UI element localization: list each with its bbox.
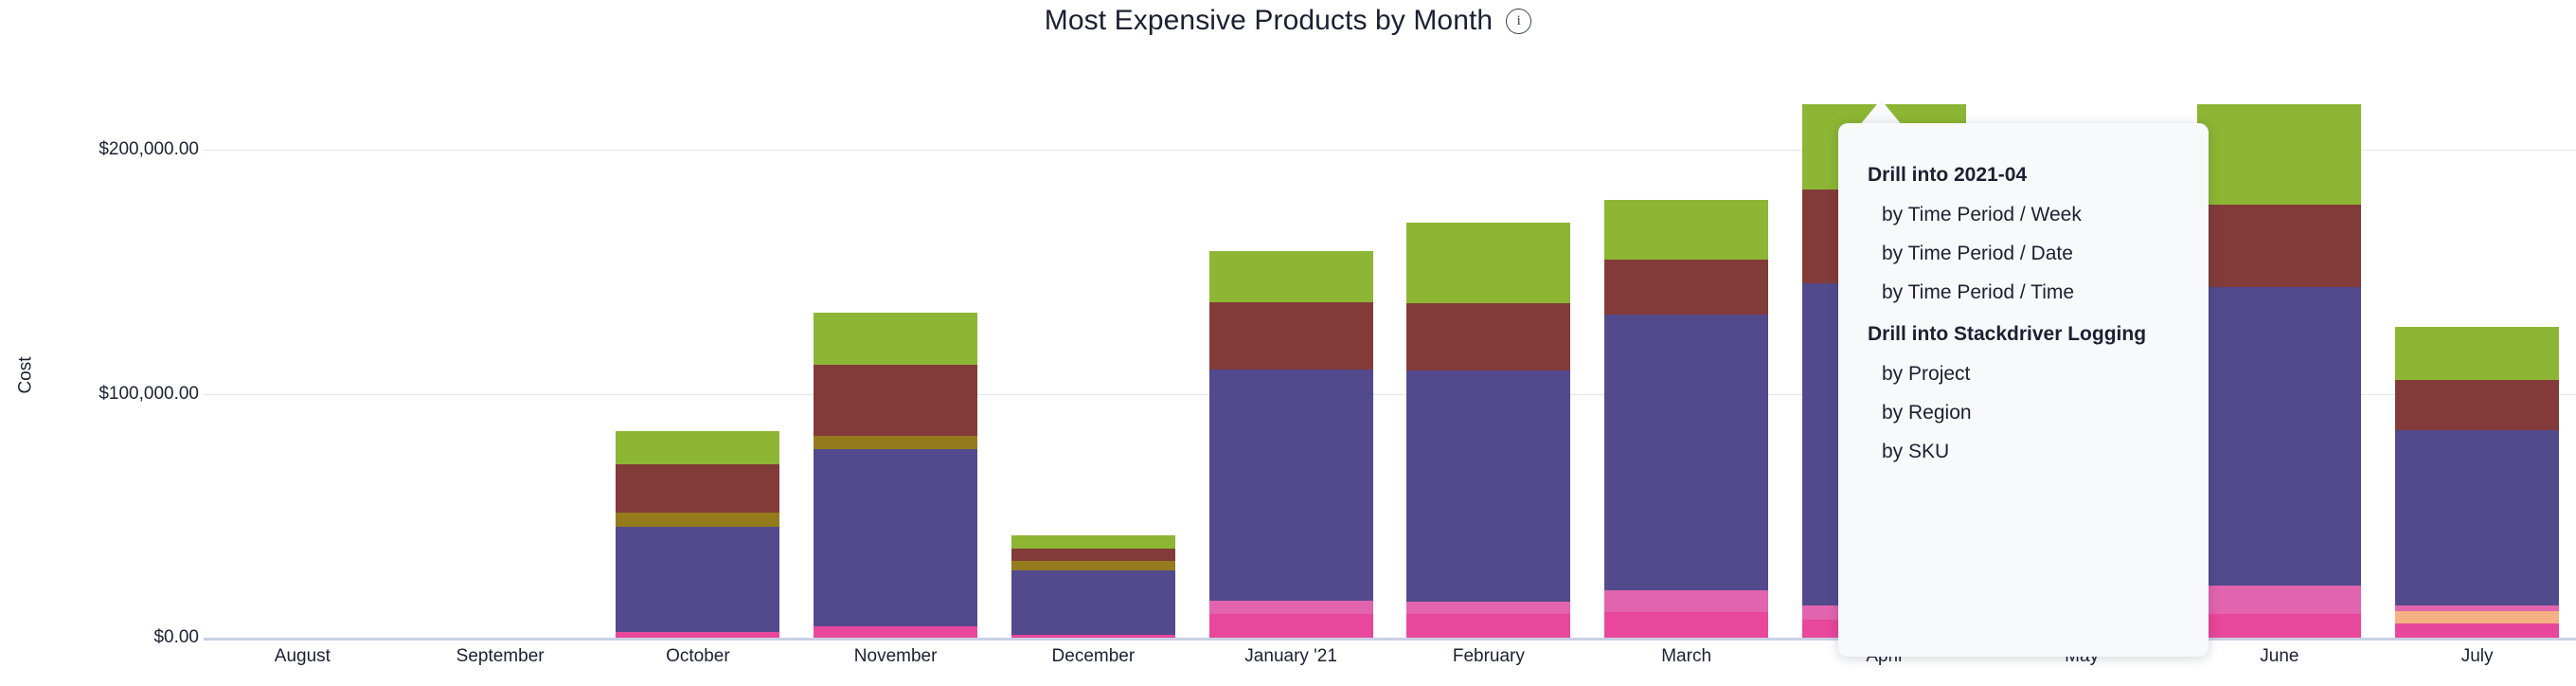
drill-menu-popup[interactable]: Drill into 2021-04by Time Period / Weekb… xyxy=(1838,123,2209,657)
bar-segment[interactable] xyxy=(1604,315,1768,590)
bar-segment[interactable] xyxy=(1011,561,1175,570)
bar-segment[interactable] xyxy=(2395,327,2559,379)
bar-column[interactable] xyxy=(2395,327,2559,638)
x-axis-tick-label: June xyxy=(2260,646,2299,667)
bar-segment[interactable] xyxy=(1406,223,1570,303)
bar-segment[interactable] xyxy=(616,464,779,514)
bar-segment[interactable] xyxy=(2197,586,2361,614)
x-axis-tick-label: November xyxy=(854,646,938,667)
x-axis-tick-label: January '21 xyxy=(1244,646,1337,667)
x-axis-tick-label: October xyxy=(666,646,730,667)
y-axis-ticks: $0.00$100,000.00$200,000.00 xyxy=(0,0,199,686)
bar-segment[interactable] xyxy=(1011,549,1175,560)
bar-segment[interactable] xyxy=(1604,590,1768,612)
bar-segment[interactable] xyxy=(1406,614,1570,638)
bar-segment[interactable] xyxy=(2395,430,2559,605)
x-axis-tick-label: December xyxy=(1052,646,1136,667)
drill-menu-item[interactable]: by Time Period / Time xyxy=(1882,281,2074,304)
bar-segment[interactable] xyxy=(814,449,977,626)
bar-segment[interactable] xyxy=(616,527,779,632)
drill-menu-item[interactable]: by Project xyxy=(1882,363,1970,386)
bar-segment[interactable] xyxy=(2197,614,2361,638)
bar-column[interactable] xyxy=(1604,200,1768,638)
bar-segment[interactable] xyxy=(1209,251,1373,302)
y-axis-tick-label: $200,000.00 xyxy=(98,139,199,160)
bar-segment[interactable] xyxy=(2395,605,2559,611)
bar-segment[interactable] xyxy=(1011,635,1175,638)
bar-segment[interactable] xyxy=(814,365,977,436)
bar-segment[interactable] xyxy=(1604,200,1768,260)
bar-column[interactable] xyxy=(814,313,977,639)
bar-segment[interactable] xyxy=(1406,370,1570,603)
bar-segment[interactable] xyxy=(1209,601,1373,614)
drill-menu-item[interactable]: by Region xyxy=(1882,402,1972,424)
y-axis-tick-label: $0.00 xyxy=(153,627,199,648)
drill-menu-item[interactable]: by SKU xyxy=(1882,441,1949,463)
bar-segment[interactable] xyxy=(616,632,779,638)
bar-segment[interactable] xyxy=(814,626,977,638)
bar-segment[interactable] xyxy=(2197,205,2361,286)
x-axis-tick-label: March xyxy=(1661,646,1711,667)
bar-column[interactable] xyxy=(616,431,779,638)
bar-segment[interactable] xyxy=(814,436,977,450)
bar-column[interactable] xyxy=(1011,535,1175,638)
drill-menu-section-header: Drill into 2021-04 xyxy=(1868,164,2027,187)
bar-segment[interactable] xyxy=(2395,380,2559,430)
x-axis-line xyxy=(204,638,2576,641)
bar-segment[interactable] xyxy=(1011,570,1175,635)
bar-segment[interactable] xyxy=(2395,623,2559,638)
bar-segment[interactable] xyxy=(1604,612,1768,638)
chart-page: Most Expensive Products by Month i Cost … xyxy=(0,0,2576,686)
bar-segment[interactable] xyxy=(616,431,779,464)
y-axis-tick-label: $100,000.00 xyxy=(98,384,199,405)
bar-segment[interactable] xyxy=(2197,287,2361,586)
bar-segment[interactable] xyxy=(1406,303,1570,370)
bar-segment[interactable] xyxy=(1209,614,1373,638)
bar-segment[interactable] xyxy=(1604,260,1768,315)
bar-segment[interactable] xyxy=(1209,370,1373,602)
drill-menu-item[interactable]: by Time Period / Date xyxy=(1882,243,2073,265)
bar-segment[interactable] xyxy=(1011,535,1175,549)
drill-menu-section-header: Drill into Stackdriver Logging xyxy=(1868,323,2146,346)
bar-column[interactable] xyxy=(1209,251,1373,638)
x-axis-tick-label: August xyxy=(275,646,331,667)
bar-segment[interactable] xyxy=(2395,611,2559,623)
x-axis-tick-label: July xyxy=(2461,646,2494,667)
bar-column[interactable] xyxy=(1406,223,1570,638)
bar-segment[interactable] xyxy=(814,313,977,365)
bar-segment[interactable] xyxy=(616,513,779,527)
drill-menu-item[interactable]: by Time Period / Week xyxy=(1882,204,2082,226)
bar-segment[interactable] xyxy=(1406,602,1570,614)
x-axis-tick-label: September xyxy=(456,646,545,667)
bar-column[interactable] xyxy=(2197,104,2361,638)
bar-segment[interactable] xyxy=(2197,104,2361,206)
bar-segment[interactable] xyxy=(1209,302,1373,370)
x-axis-tick-label: February xyxy=(1453,646,1525,667)
